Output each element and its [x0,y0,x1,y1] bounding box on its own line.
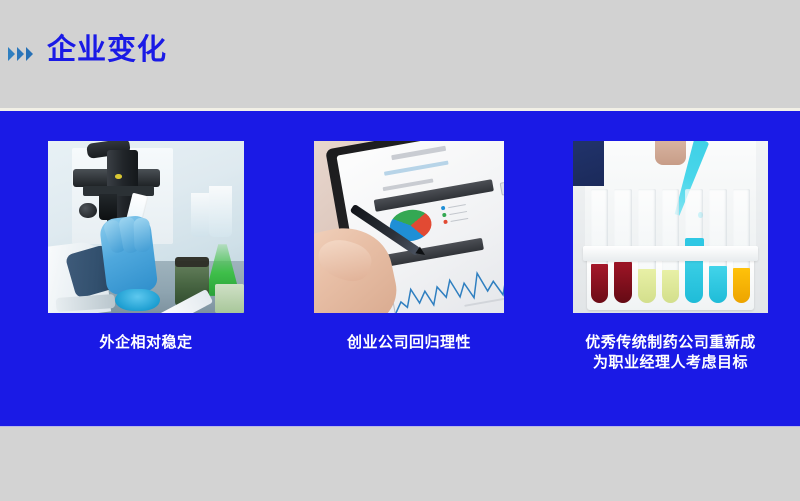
card-3-caption: 优秀传统制药公司重新成 为职业经理人考虑目标 [568,333,773,374]
test-tubes-photo [573,141,768,313]
page-title: 企业变化 [47,36,167,65]
card-2-caption: 创业公司回归理性 [314,333,504,353]
slide-footer [0,427,800,501]
slide-header: 企业变化 [0,0,800,108]
card-1-caption: 外企相对稳定 [48,333,244,353]
microscope-lab-photo [48,141,244,313]
tablet-analytics-photo [314,141,504,313]
header-title-group: 企业变化 [8,36,167,65]
card-1: 外企相对稳定 [48,141,244,353]
slide-root: 企业变化 [0,0,800,501]
card-3-caption-line1: 优秀传统制药公司重新成 [568,333,773,353]
card-3-caption-line2: 为职业经理人考虑目标 [568,353,773,373]
card-3: 优秀传统制药公司重新成 为职业经理人考虑目标 [573,141,773,374]
card-2: 创业公司回归理性 [314,141,504,353]
content-panel: 外企相对稳定 [0,111,800,427]
chevron-right-triple-icon [8,47,35,61]
